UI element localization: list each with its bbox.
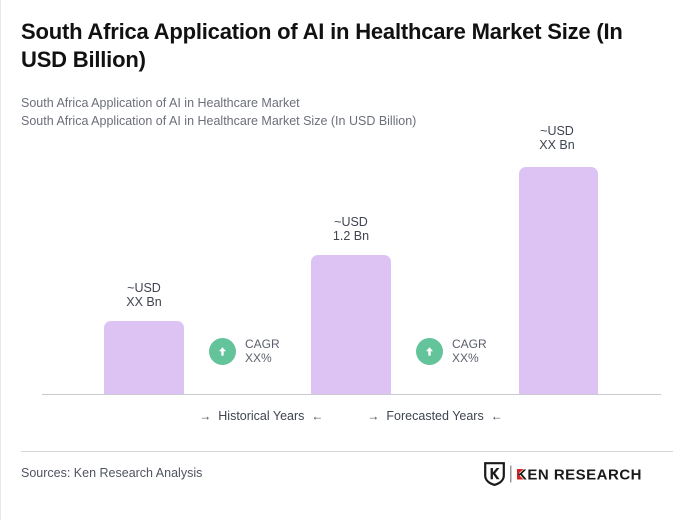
arrow-left-icon: ← [491, 409, 503, 423]
bar-chart: ~USD XX Bn ~USD 1.2 Bn ~USD XX Bn CAGR X… [1, 118, 700, 396]
cagr-label-1: CAGR XX% [245, 337, 280, 366]
period-label-historical: Historical Years [218, 409, 304, 423]
shield-logo-icon [484, 462, 505, 486]
bar-value-label-2: ~USD 1.2 Bn [301, 215, 401, 244]
chart-card: South Africa Application of AI in Health… [0, 0, 700, 520]
period-band-historical: → Historical Years ← [199, 409, 323, 423]
bar-1[interactable] [104, 321, 184, 394]
cagr-badge-1: CAGR XX% [209, 337, 280, 366]
bar-value-label-3: ~USD XX Bn [507, 124, 607, 153]
cagr-badge-2: CAGR XX% [416, 337, 487, 366]
arrow-right-icon: → [367, 409, 379, 423]
subtitle-line-1: South Africa Application of AI in Health… [21, 94, 681, 112]
bar-3[interactable] [519, 167, 598, 394]
period-band-row: → Historical Years ← → Forecasted Years … [1, 409, 700, 423]
bar-2[interactable] [311, 255, 391, 394]
ken-research-wordmark: KEN RESEARCH [510, 464, 660, 484]
arrow-right-icon: → [199, 409, 211, 423]
period-band-forecasted: → Forecasted Years ← [367, 409, 502, 423]
axis-baseline [42, 394, 661, 395]
ken-research-logo: KEN RESEARCH [484, 462, 660, 486]
footer-divider [21, 451, 673, 452]
cagr-label-2: CAGR XX% [452, 337, 487, 366]
arrow-left-icon: ← [311, 409, 323, 423]
header: South Africa Application of AI in Health… [21, 18, 681, 131]
arrow-up-icon [416, 338, 443, 365]
period-label-forecasted: Forecasted Years [386, 409, 483, 423]
arrow-up-icon [209, 338, 236, 365]
source-text: Sources: Ken Research Analysis [21, 466, 202, 480]
bar-value-label-1: ~USD XX Bn [94, 281, 194, 310]
svg-text:KEN RESEARCH: KEN RESEARCH [516, 467, 642, 484]
page-title: South Africa Application of AI in Health… [21, 18, 661, 74]
